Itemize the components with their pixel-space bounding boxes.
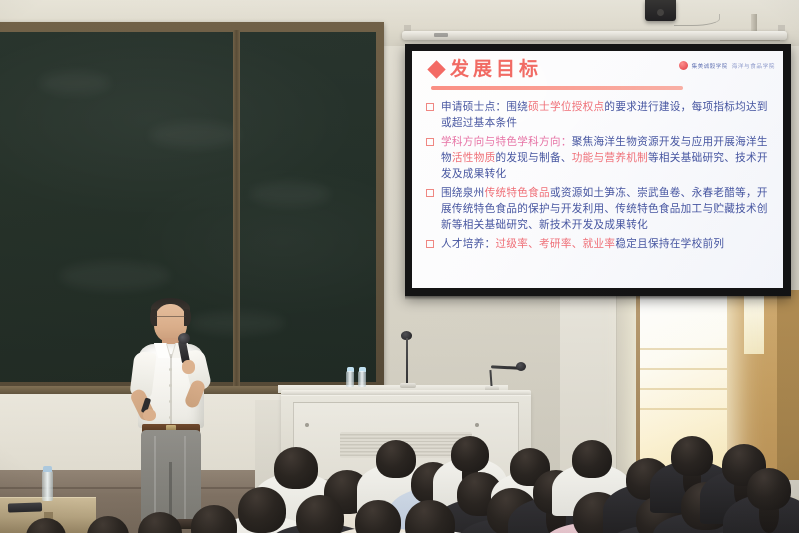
slide-header: 发展目标	[430, 60, 542, 79]
trouser-crease-right	[184, 436, 186, 520]
audience-member-head	[355, 500, 401, 533]
audience-member-body	[723, 494, 799, 533]
brand-name: 集美诚毅学院	[692, 62, 728, 70]
screen-bottom-shadow	[405, 296, 791, 300]
podium-microphone-base	[400, 383, 416, 388]
audience-member-head	[573, 492, 623, 533]
blackboard-divider	[233, 30, 240, 386]
hollow-square-icon	[426, 138, 434, 146]
brand-lockup: 集美诚毅学院 海洋与食品学院	[679, 61, 775, 70]
screen-roller-housing	[402, 31, 787, 40]
audience-member-head	[636, 496, 684, 533]
lecture-hall-photo: 发展目标 集美诚毅学院 海洋与食品学院 申请硕士点：围绕硕士学位授权点的要求进行…	[0, 0, 799, 533]
slide-bullet-text-3: 围绕泉州传统特色食品或资源如土笋冻、崇武鱼卷、永春老醋等，开展传统特色食品的保护…	[441, 185, 773, 233]
desk-bottle-1	[346, 371, 354, 387]
desk-bottle-2	[358, 371, 366, 387]
glasses-icon	[155, 316, 186, 322]
speaker-presenter	[124, 296, 218, 533]
hollow-square-icon	[426, 103, 434, 111]
slide-title: 发展目标	[450, 60, 542, 79]
screen-roller-label	[434, 33, 448, 37]
slide-bullet-text-2: 学科方向与特色学科方向：聚焦海洋生物资源开发与应用开展海洋生物活性物质的发现与制…	[441, 134, 773, 182]
slide-bullet-3: 围绕泉州传统特色食品或资源如土笋冻、崇武鱼卷、永春老醋等，开展传统特色食品的保护…	[426, 185, 773, 233]
diamond-icon	[427, 60, 445, 78]
audience-member-body	[329, 527, 427, 533]
audience-member-body	[653, 512, 759, 533]
slide-bullet-text-4: 人才培养：过级率、考研率、就业率稳定且保持在学校前列	[441, 236, 724, 252]
podium-knob-right[interactable]	[475, 423, 479, 427]
audience-member-body	[459, 518, 565, 533]
audience-member-body	[609, 525, 711, 533]
slide-bullet-text-1: 申请硕士点：围绕硕士学位授权点的要求进行建设，每项指标均达到或超过基本条件	[441, 99, 773, 131]
podium-side	[255, 400, 283, 495]
audience-member-body	[699, 529, 799, 533]
audience-member-ponytail	[546, 501, 566, 533]
audience-member-hairtie	[766, 496, 773, 501]
slide-bullet-1: 申请硕士点：围绕硕士学位授权点的要求进行建设，每项指标均达到或超过基本条件	[426, 99, 773, 131]
audience-member-hairtie	[657, 526, 664, 531]
university-seal-icon	[679, 61, 688, 70]
audience-member-hairtie	[553, 499, 560, 504]
hollow-square-icon	[426, 240, 434, 248]
slide-bullet-2: 学科方向与特色学科方向：聚焦海洋生物资源开发与应用开展海洋生物活性物质的发现与制…	[426, 134, 773, 182]
remote-control	[8, 502, 42, 512]
podium-vent-grille	[340, 432, 472, 458]
doorway	[639, 290, 727, 475]
speaker-cone-icon	[657, 9, 664, 16]
audience-member-ponytail	[649, 528, 670, 533]
audience-member-head	[405, 500, 455, 533]
hand-left	[143, 409, 156, 421]
trouser-leg-gap	[169, 462, 172, 522]
audience-member-body	[432, 499, 528, 533]
slide-bullet-4: 人才培养：过级率、考研率、就业率稳定且保持在学校前列	[426, 236, 773, 252]
slide-surface: 发展目标 集美诚毅学院 海洋与食品学院 申请硕士点：围绕硕士学位授权点的要求进行…	[412, 51, 783, 288]
water-bottle	[42, 470, 53, 501]
trouser-crease-left	[154, 436, 156, 520]
podium-microphone-stem	[406, 338, 408, 384]
hollow-square-icon	[426, 189, 434, 197]
slide-title-rule	[431, 86, 683, 90]
shoe-right	[172, 519, 199, 529]
audience-member-head	[728, 498, 780, 533]
side-table-leg	[44, 512, 53, 533]
wall-panel-left	[560, 296, 617, 486]
projection-screen[interactable]: 发展目标 集美诚毅学院 海洋与食品学院 申请硕士点：围绕硕士学位授权点的要求进行…	[405, 44, 791, 296]
slide-bullet-list: 申请硕士点：围绕硕士学位授权点的要求进行建设，每项指标均达到或超过基本条件学科方…	[426, 99, 773, 255]
audience-member-hairtie	[375, 529, 382, 533]
door-jamb	[636, 290, 640, 475]
audience-member-body	[508, 497, 604, 533]
far-right-wall	[777, 290, 799, 480]
audience-member-body	[544, 522, 652, 533]
shoe-left	[142, 518, 168, 529]
hand-right	[182, 360, 195, 374]
door-window	[744, 292, 764, 354]
audience-member-ponytail	[759, 497, 778, 533]
podium-knob-left[interactable]	[305, 423, 309, 427]
boom-microphone-head-icon	[516, 362, 526, 371]
water-bottle-cap	[43, 466, 52, 472]
brand-sub: 海洋与食品学院	[732, 62, 775, 70]
